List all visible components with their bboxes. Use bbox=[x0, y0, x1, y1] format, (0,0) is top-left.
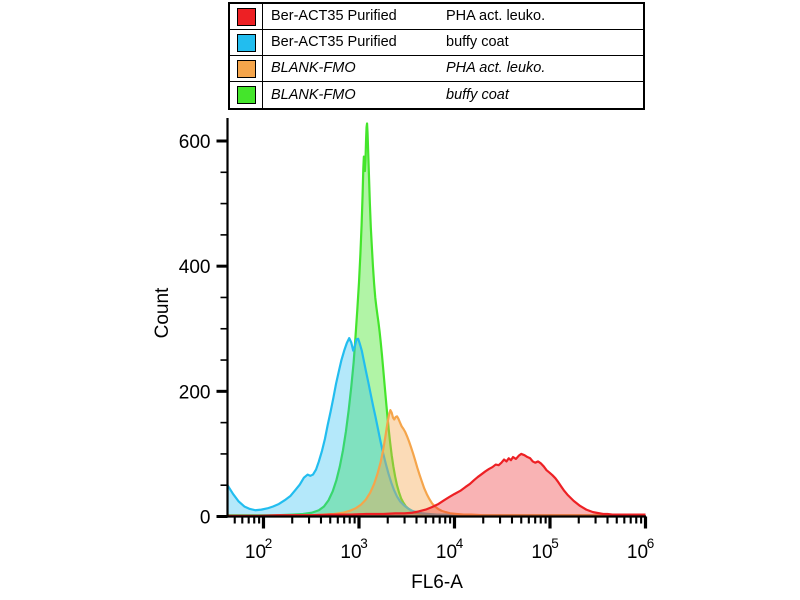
x-tick-layer bbox=[235, 517, 646, 529]
x-tick-exponent: 5 bbox=[551, 536, 559, 551]
histogram-area-1 bbox=[228, 338, 646, 516]
histogram-svg: 0200400600 102103104105106 Count FL6-A bbox=[0, 0, 800, 600]
y-tick-label: 400 bbox=[179, 257, 211, 278]
x-tick-exponent: 6 bbox=[647, 536, 655, 551]
x-tick-base: 10 bbox=[436, 542, 457, 563]
series-layer bbox=[228, 123, 646, 516]
x-tick-label: 105 bbox=[531, 536, 558, 563]
x-tick-base: 10 bbox=[340, 542, 361, 563]
y-tick-label: 0 bbox=[200, 508, 211, 529]
histogram-outline-1 bbox=[228, 338, 646, 515]
x-tick-label-layer: 102103104105106 bbox=[245, 536, 654, 563]
y-axis-title: Count bbox=[152, 287, 173, 338]
y-tick-layer bbox=[217, 141, 228, 517]
y-tick-label-layer: 0200400600 bbox=[179, 132, 211, 529]
x-tick-exponent: 2 bbox=[265, 536, 273, 551]
x-axis-title: FL6-A bbox=[411, 572, 463, 593]
x-tick-label: 102 bbox=[245, 536, 272, 563]
x-tick-label: 106 bbox=[627, 536, 654, 563]
x-tick-label: 103 bbox=[340, 536, 367, 563]
x-tick-base: 10 bbox=[245, 542, 266, 563]
y-tick-label: 600 bbox=[179, 132, 211, 153]
x-tick-exponent: 4 bbox=[456, 536, 464, 551]
histogram-plot: 0200400600 102103104105106 Count FL6-A bbox=[0, 0, 800, 600]
x-tick-base: 10 bbox=[627, 542, 648, 563]
histogram-outline-3 bbox=[228, 123, 646, 515]
x-tick-exponent: 3 bbox=[360, 536, 368, 551]
histogram-area-3 bbox=[228, 123, 646, 516]
x-tick-label: 104 bbox=[436, 536, 464, 563]
y-tick-label: 200 bbox=[179, 382, 211, 403]
flow-cytometry-figure: Ber-ACT35 Purified PHA act. leuko. Ber-A… bbox=[0, 0, 800, 600]
axis-layer bbox=[217, 118, 647, 529]
x-tick-base: 10 bbox=[531, 542, 552, 563]
